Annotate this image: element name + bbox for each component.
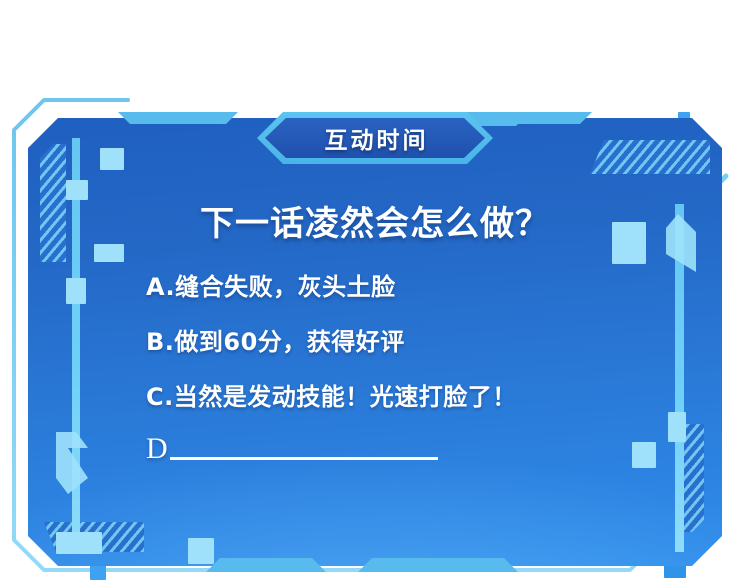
option-d[interactable]: D <box>146 432 682 466</box>
decor-chip-left-b <box>100 148 124 170</box>
options-list: A.缝合失败，灰头土脸 B.做到60分，获得好评 C.当然是发动技能！光速打脸了… <box>28 267 722 466</box>
option-d-label: D <box>146 432 168 466</box>
decor-chip-bottom <box>188 538 214 564</box>
option-b[interactable]: B.做到60分，获得好评 <box>146 322 682 357</box>
question-panel: 下一话凌然会怎么做？ A.缝合失败，灰头土脸 B.做到60分，获得好评 C.当然… <box>28 118 722 566</box>
interactive-question-card: 下一话凌然会怎么做？ A.缝合失败，灰头土脸 B.做到60分，获得好评 C.当然… <box>0 0 750 586</box>
edge-tab-bottom-center <box>358 558 518 572</box>
hatch-corner-top-right <box>590 140 710 174</box>
question-text: 下一话凌然会怎么做？ <box>28 196 722 245</box>
edge-tab-bottom-left <box>206 558 326 572</box>
option-d-blank-input[interactable] <box>170 457 438 460</box>
edge-tab-top-left <box>118 112 238 124</box>
option-a[interactable]: A.缝合失败，灰头土脸 <box>146 267 682 302</box>
option-c[interactable]: C.当然是发动技能！光速打脸了！ <box>146 377 682 412</box>
decor-chip-left-e <box>56 532 102 554</box>
banner-title: 互动时间 <box>257 112 493 164</box>
title-banner: 互动时间 <box>257 112 493 164</box>
panel-content: 下一话凌然会怎么做？ A.缝合失败，灰头土脸 B.做到60分，获得好评 C.当然… <box>28 196 722 466</box>
